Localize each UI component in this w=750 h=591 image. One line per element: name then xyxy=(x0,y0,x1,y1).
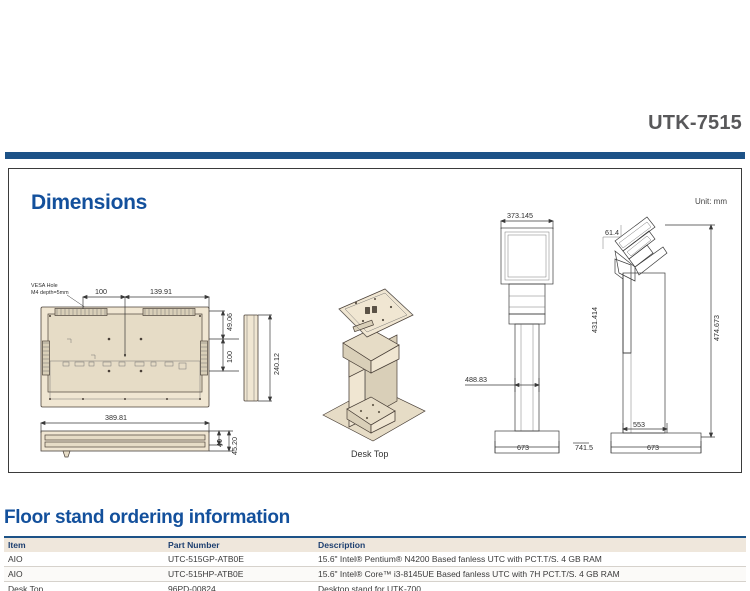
dim-width-139: 139.91 xyxy=(150,287,172,296)
desk-top-caption: Desk Top xyxy=(351,449,388,459)
floor-stand-heading: Floor stand ordering information xyxy=(4,507,290,529)
title-divider xyxy=(5,152,745,159)
dim-fs-base-553: 553 xyxy=(633,420,645,429)
table-row: Desk Top 96PD-00824 Desktop stand for UT… xyxy=(4,582,746,591)
dimensions-heading: Dimensions xyxy=(31,191,147,215)
page-title: UTK-7515 xyxy=(648,112,742,135)
dim-width-389: 389.81 xyxy=(105,413,127,422)
table-row: AIO UTC-515HP-ATB0E 15.6" Intel® Core™ i… xyxy=(4,567,746,582)
dim-fs-top-width: 373.145 xyxy=(507,211,533,220)
floor-stand-side-drawing: 61.4 474.673 431.414 xyxy=(589,203,749,458)
cell-item: AIO xyxy=(4,552,164,567)
vesa-note-line2: M4 depth=5mm xyxy=(31,290,69,296)
floor-stand-table: Item Part Number Description AIO UTC-515… xyxy=(4,536,746,591)
dim-fs-column-height: 431.414 xyxy=(590,307,599,333)
floor-stand-front-drawing: 373.145 xyxy=(457,203,607,458)
column-header-part-number: Part Number xyxy=(164,537,314,552)
dim-fs-mid-width: 488.83 xyxy=(465,375,487,384)
dim-height-100: 100 xyxy=(225,351,234,363)
dim-width-100: 100 xyxy=(95,287,107,296)
side-view-drawing: 240.12 xyxy=(234,307,294,417)
dim-side-height-240: 240.12 xyxy=(272,353,281,375)
dimensions-panel: Dimensions Unit: mm VESA Hole M4 depth=5… xyxy=(8,168,742,473)
column-header-description: Description xyxy=(314,537,746,552)
cell-item: Desk Top xyxy=(4,582,164,591)
dim-fs-base-673: 673 xyxy=(647,443,659,452)
page-root: UTK-7515 Dimensions Unit: mm VESA Hole M… xyxy=(0,0,750,591)
cell-part-number: UTC-515GP-ATB0E xyxy=(164,552,314,567)
cell-item: AIO xyxy=(4,567,164,582)
table-row: AIO UTC-515GP-ATB0E 15.6" Intel® Pentium… xyxy=(4,552,746,567)
cell-part-number: 96PD-00824 xyxy=(164,582,314,591)
column-header-item: Item xyxy=(4,537,164,552)
cell-description: 15.6" Intel® Core™ i3-8145UE Based fanle… xyxy=(314,567,746,582)
cell-part-number: UTC-515HP-ATB0E xyxy=(164,567,314,582)
vesa-note-line1: VESA Hole xyxy=(31,283,58,289)
dim-depth-40: 40 xyxy=(215,439,224,447)
dim-fs-base-width: 673 xyxy=(517,443,529,452)
cell-description: Desktop stand for UTK-700 xyxy=(314,582,746,591)
dim-depth-45: 45.20 xyxy=(230,437,239,455)
dim-fs-total-height: 474.673 xyxy=(712,315,721,341)
cell-description: 15.6" Intel® Pentium® N4200 Based fanles… xyxy=(314,552,746,567)
dim-height-49: 49.06 xyxy=(225,313,234,331)
dim-fs-base-offset: 741.5 xyxy=(575,443,593,452)
desk-top-drawing: Desk Top xyxy=(309,287,449,462)
table-header-row: Item Part Number Description xyxy=(4,537,746,552)
dim-fs-tilt-angle: 61.4 xyxy=(605,228,619,237)
